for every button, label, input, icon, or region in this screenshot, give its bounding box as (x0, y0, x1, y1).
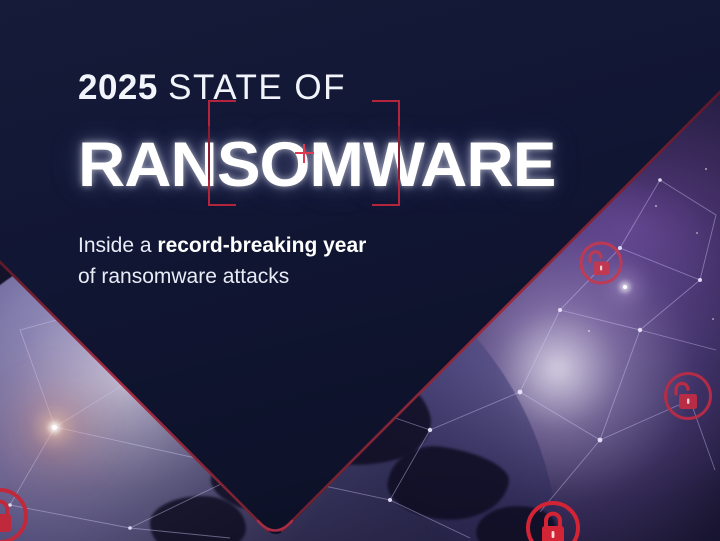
subhead-line-2: of ransomware attacks (78, 261, 598, 292)
reticle-corner-bottom-right (372, 178, 400, 206)
reticle-line-left (208, 126, 210, 180)
reticle-line-right (398, 126, 400, 180)
kicker-year: 2025 (78, 68, 158, 107)
targeting-reticle-icon (208, 100, 400, 206)
reticle-corner-top-left (208, 100, 236, 128)
headline-block: 2025 STATE OF RANSOMWARE Inside a record… (78, 66, 598, 292)
reticle-corner-bottom-left (208, 178, 236, 206)
lock-icon-lower (524, 499, 582, 541)
subhead-line-1: Inside a record-breaking year (78, 230, 598, 261)
unlock-icon-upper (578, 240, 624, 286)
unlock-icon-right (662, 370, 714, 422)
reticle-crosshair-vertical (303, 144, 305, 163)
lock-icon-edge-left (0, 486, 30, 541)
bigword-row: RANSOMWARE (78, 128, 598, 202)
subhead-emphasis: record-breaking year (157, 234, 366, 257)
reticle-corner-top-right (372, 100, 400, 128)
ransomware-report-cover: 2025 STATE OF RANSOMWARE Inside a record… (0, 0, 720, 541)
subhead-plain: Inside a (78, 234, 157, 257)
subhead-block: Inside a record-breaking year of ransomw… (78, 230, 598, 292)
